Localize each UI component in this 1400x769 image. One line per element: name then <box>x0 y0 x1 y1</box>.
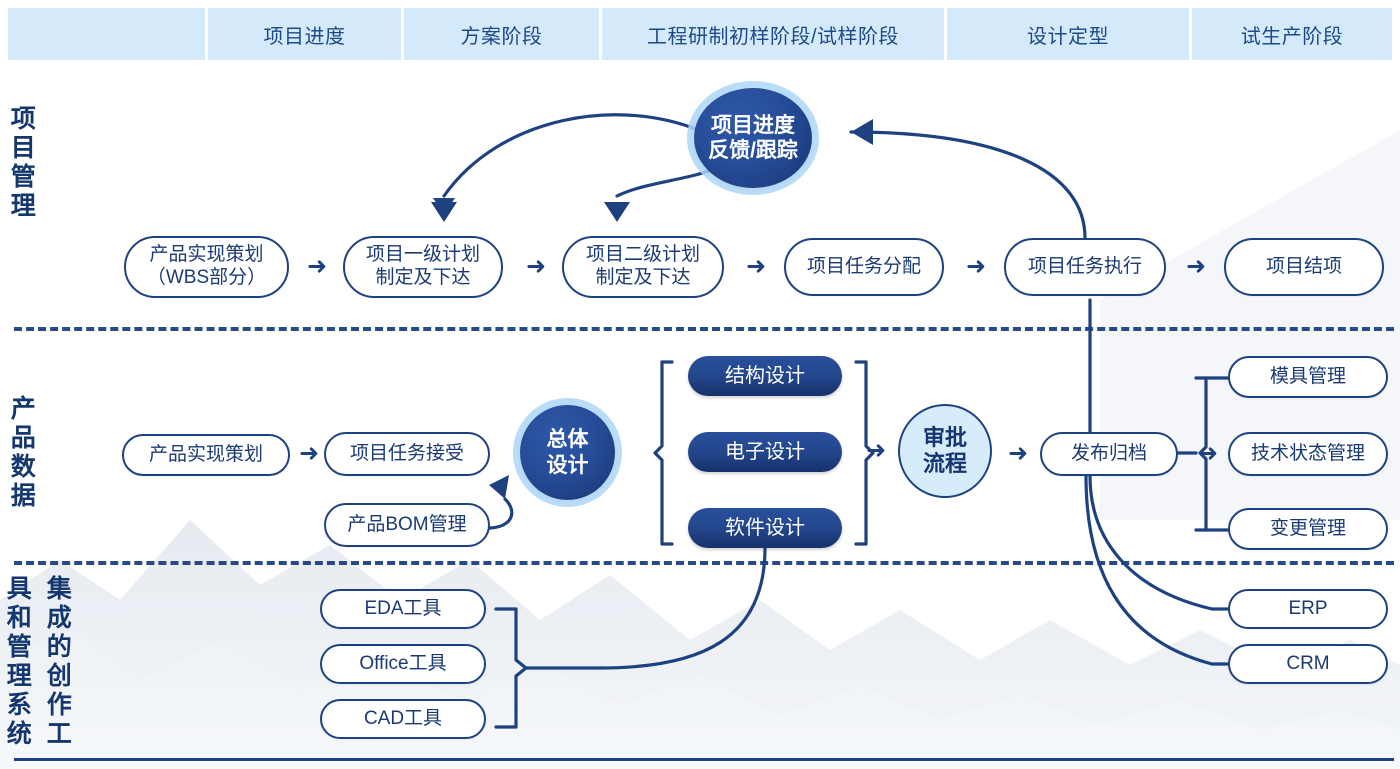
node-label: 项目任务接受 <box>350 443 464 466</box>
node-label-line2: 流程 <box>923 451 967 476</box>
arrow-icon: ➜ <box>738 255 774 279</box>
node-structural-design[interactable]: 结构设计 <box>688 356 842 396</box>
phase-cell-label: 项目进度 <box>264 20 346 49</box>
wire-release-to-erp <box>1090 476 1212 609</box>
brace-tools <box>496 609 526 727</box>
section-label-product-data: 产品数据 <box>8 395 34 545</box>
node-label: 电子设计 <box>725 440 805 464</box>
node-cad-tool[interactable]: CAD工具 <box>320 699 486 739</box>
node-project-closure[interactable]: 项目结项 <box>1224 238 1384 296</box>
arrow-icon: ➜ <box>862 440 890 462</box>
phase-cell-scheme[interactable]: 方案阶段 <box>404 8 602 60</box>
wire-feedback-to-plan1 <box>444 115 703 196</box>
node-label: 产品实现策划 <box>149 444 263 467</box>
node-label: 产品BOM管理 <box>347 514 466 537</box>
node-label-line1: 项目一级计划 <box>366 244 480 265</box>
node-label: EDA工具 <box>364 598 441 621</box>
phase-header-bar: 项目进度 方案阶段 工程研制初样阶段/试样阶段 设计定型 试生产阶段 <box>8 8 1392 60</box>
node-task-execution[interactable]: 项目任务执行 <box>1004 238 1166 296</box>
brace-left-design <box>655 362 672 544</box>
phase-cell-label: 方案阶段 <box>461 20 543 49</box>
node-label-line2: 制定及下达 <box>595 267 690 288</box>
phase-cell-trial-production[interactable]: 试生产阶段 <box>1192 8 1392 60</box>
phase-cell-blank <box>8 8 208 60</box>
node-task-assignment[interactable]: 项目任务分配 <box>784 238 944 296</box>
arrow-icon: ➜ <box>1194 443 1222 465</box>
node-product-realization-planning[interactable]: 产品实现策划 <box>122 434 290 476</box>
node-label: CRM <box>1286 653 1329 676</box>
node-label: 项目结项 <box>1266 256 1342 279</box>
node-eda-tool[interactable]: EDA工具 <box>320 589 486 629</box>
arrow-icon: ➜ <box>299 255 335 279</box>
node-approval-process[interactable]: 审批 流程 <box>898 404 992 498</box>
node-label-line1: 项目进度 <box>711 114 795 137</box>
node-label-line1: 产品实现策划 <box>149 244 263 265</box>
node-release-archive[interactable]: 发布归档 <box>1040 432 1178 476</box>
node-product-bom-management[interactable]: 产品BOM管理 <box>324 503 490 547</box>
node-overall-design[interactable]: 总体 设计 <box>520 405 615 500</box>
node-label-line1: 项目二级计划 <box>586 244 700 265</box>
footer-rule <box>14 758 1394 761</box>
arrow-icon: ➜ <box>1178 255 1214 279</box>
node-label: 产品实现策划 （WBS部分） <box>147 244 266 290</box>
section-divider-1 <box>14 327 1394 331</box>
node-label-line2: 设计 <box>547 454 589 477</box>
arrow-icon: ➜ <box>518 255 554 279</box>
node-label: 发布归档 <box>1071 443 1147 466</box>
node-technical-state-management[interactable]: 技术状态管理 <box>1228 432 1388 476</box>
node-label-line2: 制定及下达 <box>375 267 470 288</box>
phase-cell-label: 工程研制初样阶段/试样阶段 <box>647 20 899 49</box>
diagram-canvas: 项目进度 方案阶段 工程研制初样阶段/试样阶段 设计定型 试生产阶段 项目管理 … <box>0 0 1400 769</box>
node-label: 审批 流程 <box>923 425 967 478</box>
arrow-icon: ➜ <box>1004 443 1032 465</box>
node-progress-feedback[interactable]: 项目进度 反馈/跟踪 <box>694 88 812 188</box>
node-crm[interactable]: CRM <box>1228 644 1388 684</box>
section-label-project-management: 项目管理 <box>8 105 34 255</box>
node-level2-plan[interactable]: 项目二级计划 制定及下达 <box>562 236 724 298</box>
node-label: 技术状态管理 <box>1251 443 1365 466</box>
node-label: 总体 设计 <box>547 427 589 477</box>
phase-cell-design-finalize[interactable]: 设计定型 <box>947 8 1192 60</box>
node-label: 变更管理 <box>1270 518 1346 541</box>
node-label: 项目任务分配 <box>807 256 921 279</box>
arrow-icon: ➜ <box>958 255 994 279</box>
section-divider-2 <box>14 561 1394 565</box>
wire-software-to-tools <box>600 548 765 668</box>
node-label: Office工具 <box>359 653 446 676</box>
arrow-icon: ➜ <box>296 443 322 465</box>
node-label: CAD工具 <box>364 708 442 731</box>
node-label: 结构设计 <box>725 364 805 388</box>
node-label: 项目二级计划 制定及下达 <box>586 244 700 290</box>
node-label: ERP <box>1288 598 1327 621</box>
node-label: 项目一级计划 制定及下达 <box>366 244 480 290</box>
node-label: 项目进度 反馈/跟踪 <box>708 113 798 163</box>
section-label-tools-col-left: 具和管理系统 <box>4 575 30 755</box>
node-label-line1: 总体 <box>547 428 589 451</box>
node-office-tool[interactable]: Office工具 <box>320 644 486 684</box>
node-erp[interactable]: ERP <box>1228 589 1388 629</box>
node-software-design[interactable]: 软件设计 <box>688 508 842 548</box>
node-change-management[interactable]: 变更管理 <box>1228 508 1388 550</box>
node-label-line2: （WBS部分） <box>147 267 266 288</box>
phase-cell-label: 试生产阶段 <box>1241 20 1344 49</box>
node-label: 软件设计 <box>725 516 805 540</box>
node-label-line1: 审批 <box>923 425 967 450</box>
phase-cell-schedule[interactable]: 项目进度 <box>208 8 404 60</box>
wire-release-to-crm <box>1086 476 1212 664</box>
node-task-acceptance[interactable]: 项目任务接受 <box>324 432 490 476</box>
phase-cell-engineering[interactable]: 工程研制初样阶段/试样阶段 <box>602 8 947 60</box>
wire-bom-to-overall <box>490 499 512 528</box>
phase-cell-label: 设计定型 <box>1027 20 1109 49</box>
wire-feedback-to-plan2 <box>617 168 716 196</box>
node-product-realization-planning-wbs[interactable]: 产品实现策划 （WBS部分） <box>124 236 289 298</box>
wire-exec-to-feedback <box>851 132 1085 238</box>
node-label-line2: 反馈/跟踪 <box>708 139 798 162</box>
node-electronic-design[interactable]: 电子设计 <box>688 432 842 472</box>
node-level1-plan[interactable]: 项目一级计划 制定及下达 <box>343 236 503 298</box>
node-mold-management[interactable]: 模具管理 <box>1228 356 1388 398</box>
node-label: 模具管理 <box>1270 366 1346 389</box>
section-label-tools-col-right: 集成的创作工 <box>44 575 70 755</box>
node-label: 项目任务执行 <box>1028 256 1142 279</box>
